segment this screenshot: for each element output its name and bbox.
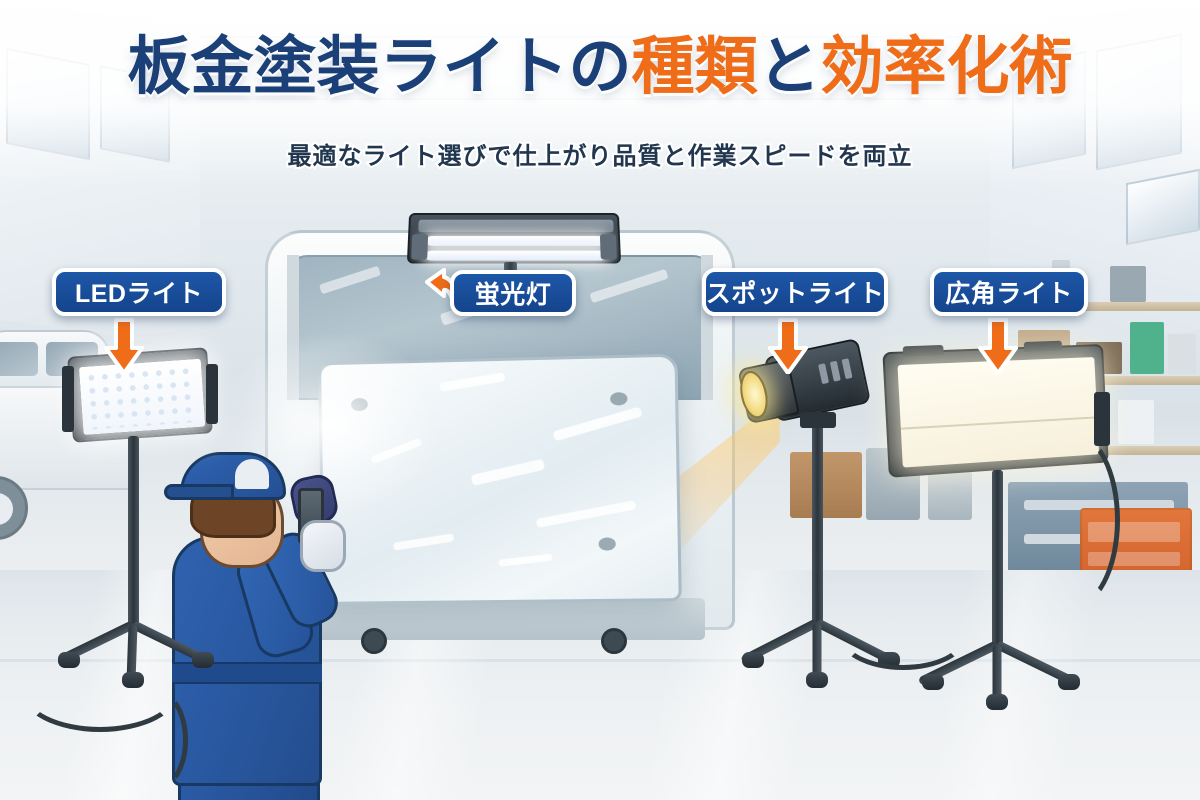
callout-label-text: 蛍光灯 <box>475 275 552 311</box>
callout-label-fluorescent[interactable]: 蛍光灯 <box>450 270 576 316</box>
callout-label-text: 広角ライト <box>945 274 1073 310</box>
illustration-canvas: LEDライト 蛍光灯 スポットライト 広角ライト 板金塗装ライトの種類と効率化術… <box>0 0 1200 800</box>
callout-label-text: スポットライト <box>706 274 885 310</box>
callout-label-spotlight[interactable]: スポットライト <box>702 268 888 316</box>
power-cable <box>128 690 188 790</box>
title-part-3: と <box>758 32 821 102</box>
callout-label-led[interactable]: LEDライト <box>52 268 226 316</box>
title-part-1: 板金塗装ライトの <box>128 32 632 102</box>
back-cabinet <box>790 452 862 518</box>
callout-label-wide[interactable]: 広角ライト <box>930 268 1088 316</box>
down-arrow-icon <box>104 318 144 374</box>
page-title: 板金塗装ライトの種類と効率化術 <box>0 34 1200 100</box>
title-part-2: 種類 <box>632 32 758 102</box>
power-cable <box>838 600 968 670</box>
power-cable <box>1024 430 1120 610</box>
page-subtitle: 最適なライト選びで仕上がり品質と作業スピードを両立 <box>0 136 1200 171</box>
callout-label-text: LEDライト <box>75 274 203 310</box>
title-part-4: 効率化術 <box>821 32 1073 102</box>
down-arrow-icon <box>978 318 1018 374</box>
down-arrow-icon <box>768 318 808 374</box>
